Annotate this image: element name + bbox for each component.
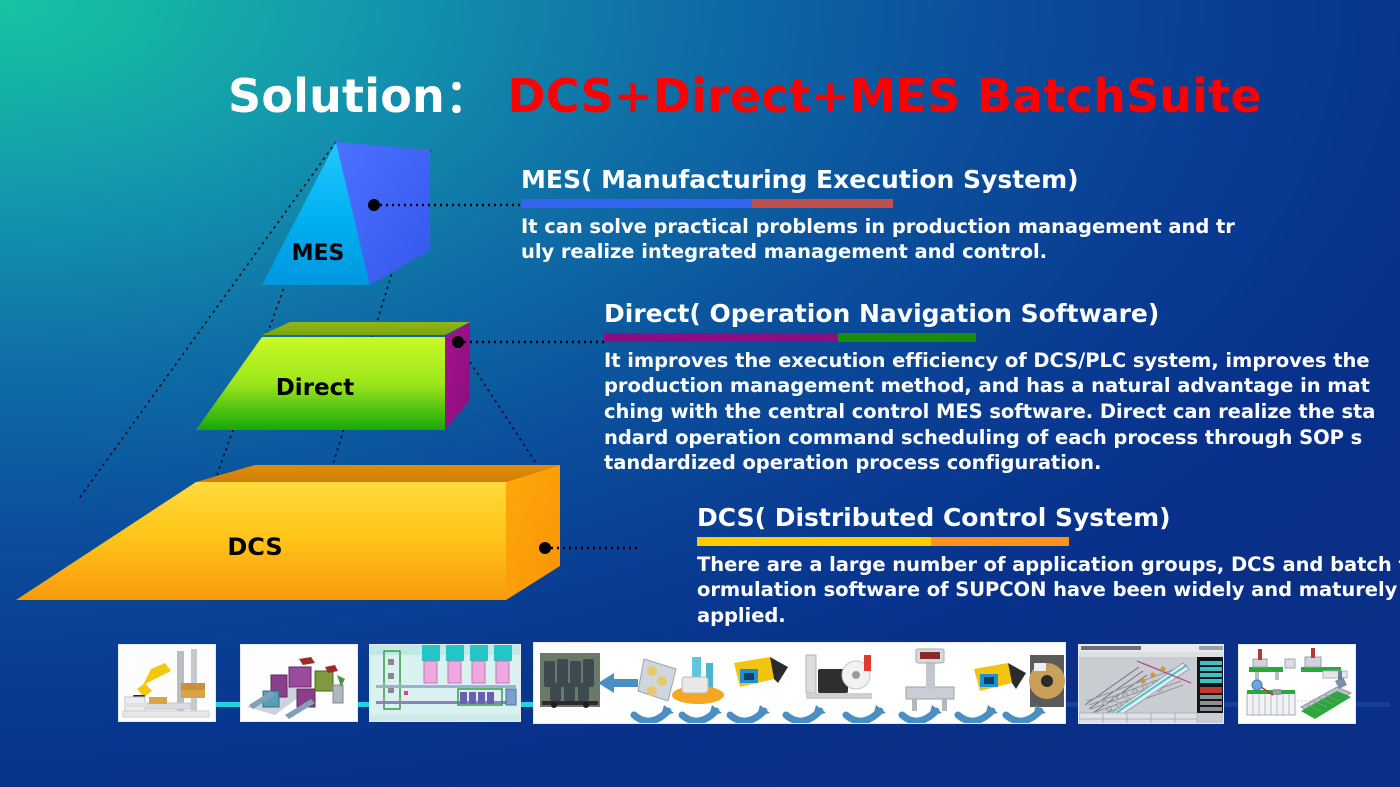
thumbnail-machine-drawing[interactable] [1238,644,1356,724]
dcs-body-line: There are a large number of application … [697,552,1397,578]
direct-body-line: tandardized operation process configurat… [604,450,1344,476]
presentation-slide: Solution： DCS+Direct+MES BatchSuite [0,0,1400,787]
pyramid-tier-mes[interactable]: MES [262,142,430,285]
thumbnail-dcs-operator-screen[interactable] [1078,644,1224,724]
direct-body-line: It improves the execution efficiency of … [604,348,1344,374]
direct-body-text: It improves the execution efficiency of … [604,348,1344,477]
dcs-bar-segment-2 [931,537,1069,546]
callout-block-direct: Direct( Operation Navigation Software) I… [604,300,976,476]
callout-block-mes: MES( Manufacturing Execution System) It … [521,166,893,265]
mes-tier-label: MES [292,241,345,266]
dcs-tier-label: DCS [227,533,282,561]
direct-top-face [262,322,470,335]
mes-bar-segment-1 [521,199,752,208]
filmstrip [0,636,1400,746]
mes-body-line: uly realize integrated management and co… [521,239,1241,265]
mes-underline-bar [521,199,893,208]
direct-body-line: production management method, and has a … [604,373,1344,399]
direct-bar-segment-1 [604,333,838,342]
direct-heading: Direct( Operation Navigation Software) [604,300,976,328]
dcs-heading: DCS( Distributed Control System) [697,504,1069,532]
mes-callout-dot [368,199,380,211]
dcs-callout-dot [539,542,551,554]
mes-heading: MES( Manufacturing Execution System) [521,166,893,194]
direct-underline-bar [604,333,976,342]
thumbnail-robot-palletizer-photo[interactable] [118,644,216,722]
dcs-body-line: applied. [697,603,1397,629]
pyramid-tier-dcs[interactable]: DCS [16,465,560,600]
thumbnail-equipment-process-flow[interactable] [533,642,1066,724]
direct-callout-dot [452,336,464,348]
direct-tier-label: Direct [276,375,355,401]
dcs-top-face [196,465,560,482]
callout-block-dcs: DCS( Distributed Control System) There a… [697,504,1069,629]
direct-bar-segment-2 [838,333,976,342]
dcs-underline-bar [697,537,1069,546]
dcs-side-face [506,465,560,600]
thumbnail-packaging-line-cad[interactable] [240,644,358,722]
thumbnail-hmi-process-screen[interactable] [369,644,521,722]
dcs-bar-segment-1 [697,537,931,546]
mes-body-text: It can solve practical problems in produ… [521,214,1241,265]
direct-body-line: ndard operation command scheduling of ea… [604,425,1344,451]
pyramid-tier-direct[interactable]: Direct [196,322,470,430]
direct-body-line: ching with the central control MES softw… [604,399,1344,425]
mes-body-line: It can solve practical problems in produ… [521,214,1241,240]
dcs-body-line: ormulation software of SUPCON have been … [697,577,1397,603]
mes-bar-segment-2 [752,199,893,208]
dcs-body-text: There are a large number of application … [697,552,1397,629]
